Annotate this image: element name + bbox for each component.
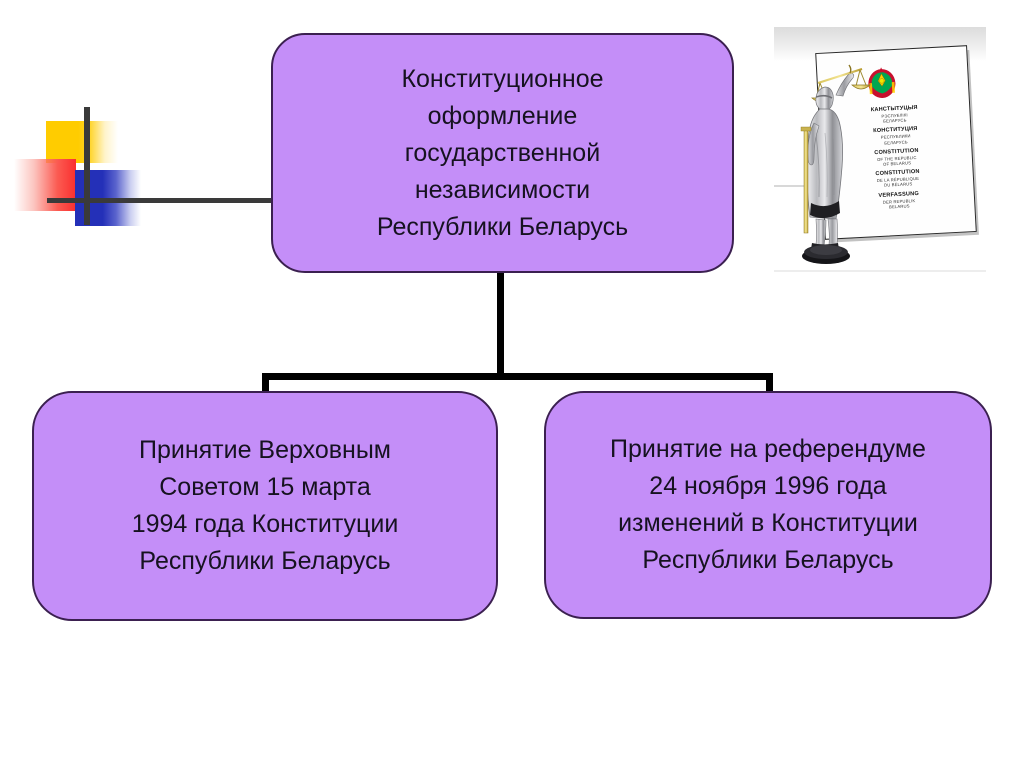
decorative-corner-motif [0, 0, 300, 250]
red-square [14, 159, 76, 211]
lady-justice-statue-icon [792, 43, 878, 271]
horizontal-rule [47, 198, 275, 203]
connector-bar [262, 373, 773, 380]
child-node-referendum-1996: Принятие на референдуме 24 ноября 1996 г… [544, 391, 992, 619]
photo-lady-justice-constitution: КАНСТЫТУЦЫЯ РЭСПУБЛІКІ БЕЛАРУСЬ КОНСТИТУ… [774, 27, 986, 286]
connector-stem [497, 272, 504, 379]
vertical-rule [84, 107, 90, 225]
root-node-constitutional-formalization: Конституционное оформление государственн… [271, 33, 734, 273]
yellow-square [46, 121, 118, 163]
child-node-supreme-soviet-1994: Принятие Верховным Советом 15 марта 1994… [32, 391, 498, 621]
